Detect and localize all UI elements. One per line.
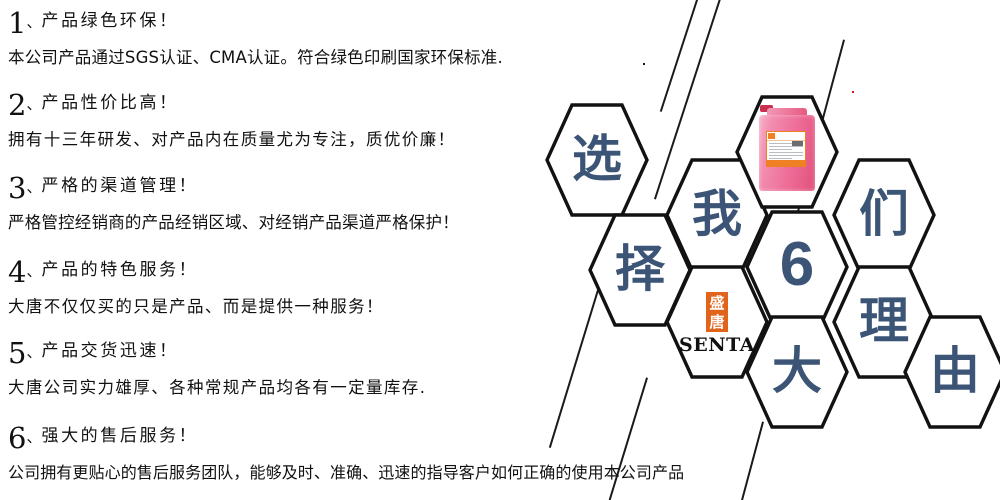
- reason-heading: 6、强大的售后服务！: [8, 424, 684, 454]
- reason-item-2: 2、产品性价比高！ 拥有十三年研发、对产品内在质量尤为专注，质优价廉！: [8, 91, 456, 150]
- reason-separator: 、: [26, 343, 41, 361]
- reason-number: 1: [8, 6, 26, 40]
- reason-item-3: 3、严格的渠道管理！ 严格管控经销商的产品经销区域、对经销产品渠道严格保护！: [8, 174, 459, 233]
- promo-banner: 选 择 我 们 6 大 理 由 盛 唐 SENTA: [0, 0, 1000, 500]
- reason-description: 拥有十三年研发、对产品内在质量尤为专注，质优价廉！: [8, 126, 456, 150]
- reason-title: 产品交货迅速！: [41, 341, 178, 361]
- reason-description: 大唐公司实力雄厚、各种常规产品均各有一定量库存.: [8, 374, 426, 398]
- reason-item-4: 4、产品的特色服务！ 大唐不仅仅买的只是产品、而是提供一种服务！: [8, 258, 384, 317]
- reason-description: 本公司产品通过SGS认证、CMA认证。符合绿色印刷国家环保标准.: [8, 44, 503, 68]
- reason-description: 公司拥有更贴心的售后服务团队，能够及时、准确、迅速的指导客户如何正确的使用本公司…: [8, 459, 684, 483]
- reason-title: 产品绿色环保！: [41, 11, 178, 31]
- reason-item-6: 6、强大的售后服务！ 公司拥有更贴心的售后服务团队，能够及时、准确、迅速的指导客…: [8, 424, 684, 483]
- reason-separator: 、: [26, 262, 41, 280]
- reason-separator: 、: [26, 95, 41, 113]
- reason-title: 强大的售后服务！: [41, 426, 198, 446]
- reason-heading: 4、产品的特色服务！: [8, 258, 384, 288]
- reason-number: 4: [8, 255, 26, 289]
- reason-title: 严格的渠道管理！: [41, 176, 198, 196]
- reason-heading: 2、产品性价比高！: [8, 91, 456, 121]
- reason-number: 5: [8, 336, 26, 370]
- reason-description: 大唐不仅仅买的只是产品、而是提供一种服务！: [8, 293, 384, 317]
- reason-heading: 1、产品绿色环保！: [8, 9, 503, 39]
- reason-item-5: 5、产品交货迅速！ 大唐公司实力雄厚、各种常规产品均各有一定量库存.: [8, 339, 426, 398]
- reason-separator: 、: [26, 13, 41, 31]
- reason-number: 6: [8, 421, 26, 455]
- reason-title: 产品性价比高！: [41, 93, 178, 113]
- reason-title: 产品的特色服务！: [41, 260, 198, 280]
- reason-item-1: 1、产品绿色环保！ 本公司产品通过SGS认证、CMA认证。符合绿色印刷国家环保标…: [8, 9, 503, 68]
- reason-number: 2: [8, 88, 26, 122]
- reason-heading: 3、严格的渠道管理！: [8, 174, 459, 204]
- reason-description: 严格管控经销商的产品经销区域、对经销产品渠道严格保护！: [8, 209, 459, 233]
- reason-number: 3: [8, 171, 26, 205]
- reason-separator: 、: [26, 428, 41, 446]
- reason-separator: 、: [26, 178, 41, 196]
- reason-heading: 5、产品交货迅速！: [8, 339, 426, 369]
- reasons-list: 1、产品绿色环保！ 本公司产品通过SGS认证、CMA认证。符合绿色印刷国家环保标…: [0, 0, 1000, 500]
